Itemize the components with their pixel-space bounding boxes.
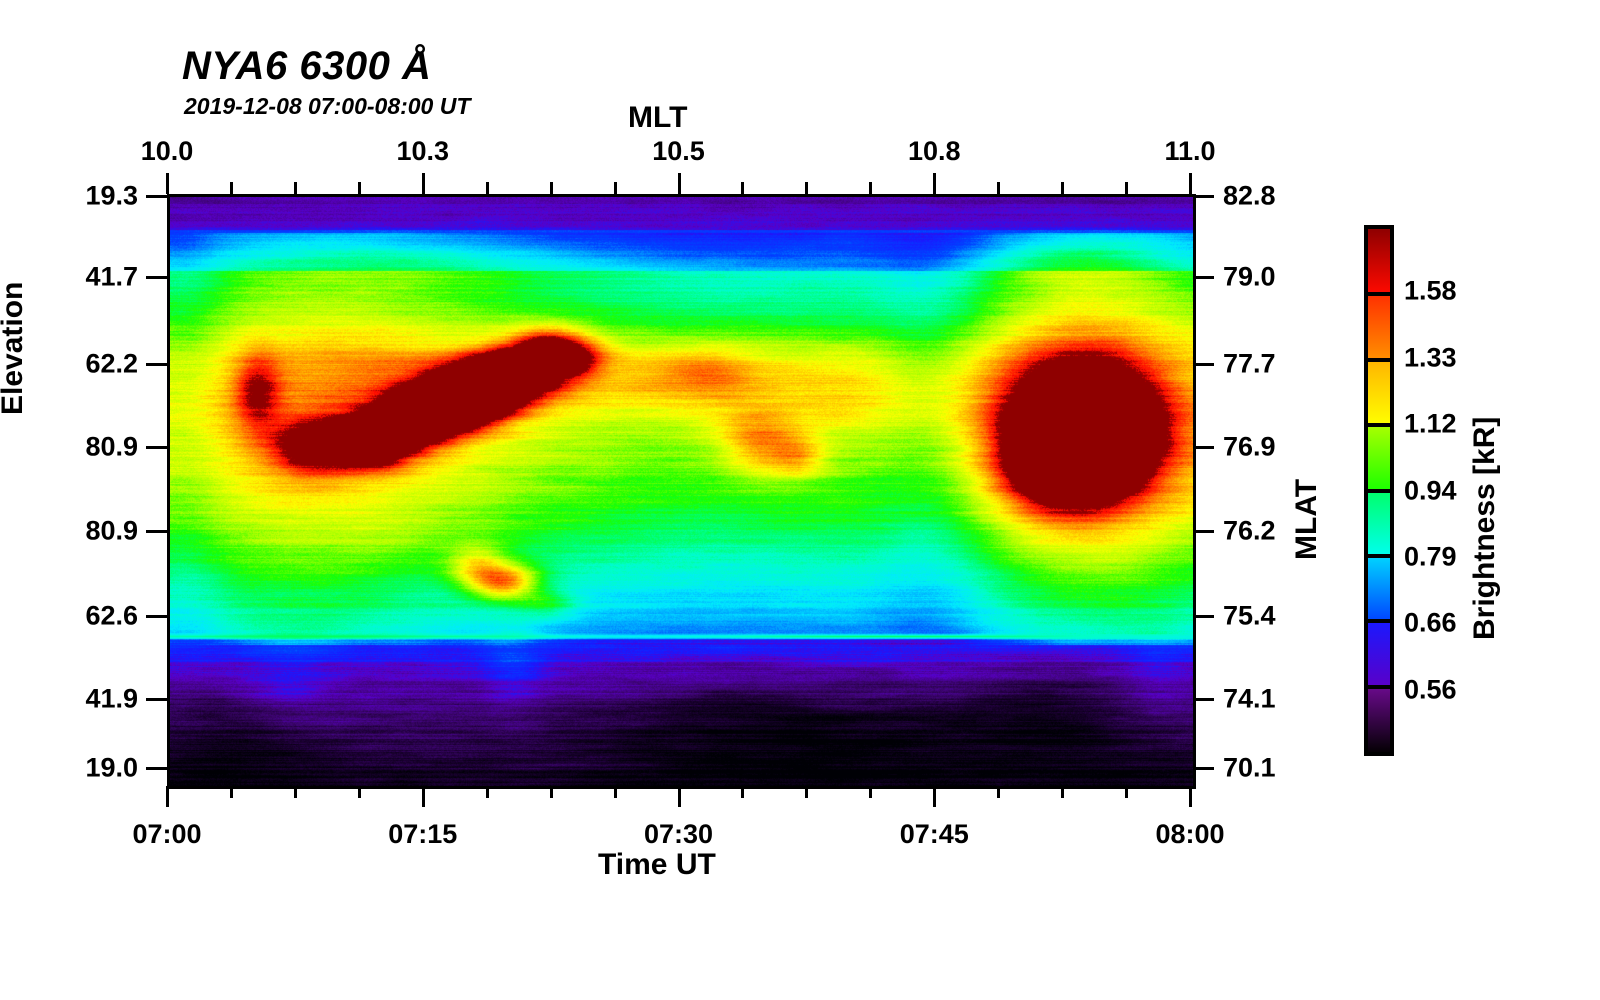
y-tick-right xyxy=(1193,276,1214,279)
page-subtitle: 2019-12-08 07:00-08:00 UT xyxy=(184,93,470,120)
y-tick-left xyxy=(146,363,167,366)
y-tick-right xyxy=(1193,530,1214,533)
colorbar-segment xyxy=(1368,556,1390,621)
colorbar-tick-label: 1.12 xyxy=(1404,409,1457,440)
x-tick-top xyxy=(678,173,681,194)
colorbar-divider xyxy=(1368,423,1390,427)
x-tick-top xyxy=(166,173,169,194)
colorbar-segment xyxy=(1368,360,1390,425)
x-minor-tick-bottom xyxy=(741,786,744,798)
x-minor-tick-bottom xyxy=(997,786,1000,798)
x-tick-label-bottom: 07:45 xyxy=(900,819,969,850)
y-tick-left xyxy=(146,698,167,701)
x-minor-tick-top xyxy=(741,182,744,194)
x-tick-top xyxy=(933,173,936,194)
y-tick-label-left: 19.3 xyxy=(85,180,138,211)
heatmap-plot-area xyxy=(167,194,1196,789)
x-minor-tick-top xyxy=(294,182,297,194)
y-tick-label-left: 41.7 xyxy=(85,262,138,293)
y-tick-label-left: 41.9 xyxy=(85,683,138,714)
colorbar-divider xyxy=(1368,554,1390,558)
y-tick-label-right: 76.2 xyxy=(1223,515,1276,546)
y-tick-left xyxy=(146,446,167,449)
colorbar-title: Brightness [kR] xyxy=(1468,417,1502,640)
colorbar-gradient xyxy=(1368,229,1390,752)
x-tick-bottom xyxy=(166,786,169,807)
right-axis-title: MLAT xyxy=(1290,479,1324,560)
x-tick-label-top: 10.8 xyxy=(908,136,961,167)
y-tick-right xyxy=(1193,767,1214,770)
x-minor-tick-bottom xyxy=(1061,786,1064,798)
x-tick-label-top: 10.0 xyxy=(141,136,194,167)
x-minor-tick-top xyxy=(614,182,617,194)
x-minor-tick-bottom xyxy=(294,786,297,798)
x-tick-label-top: 10.3 xyxy=(396,136,449,167)
colorbar-segment xyxy=(1368,229,1390,294)
top-axis-title: MLT xyxy=(628,101,687,135)
page-title: NYA6 6300 Å xyxy=(182,44,431,89)
x-minor-tick-bottom xyxy=(550,786,553,798)
x-minor-tick-bottom xyxy=(869,786,872,798)
colorbar-tick-label: 1.33 xyxy=(1404,342,1457,373)
colorbar xyxy=(1364,225,1394,756)
x-minor-tick-bottom xyxy=(614,786,617,798)
y-tick-label-right: 75.4 xyxy=(1223,600,1276,631)
x-minor-tick-top xyxy=(486,182,489,194)
x-minor-tick-bottom xyxy=(1125,786,1128,798)
y-tick-left xyxy=(146,767,167,770)
x-minor-tick-bottom xyxy=(486,786,489,798)
x-tick-label-bottom: 08:00 xyxy=(1155,819,1224,850)
x-minor-tick-top xyxy=(805,182,808,194)
colorbar-tick-label: 0.56 xyxy=(1404,674,1457,705)
colorbar-tick-label: 1.58 xyxy=(1404,276,1457,307)
y-tick-label-right: 76.9 xyxy=(1223,432,1276,463)
x-minor-tick-top xyxy=(869,182,872,194)
x-tick-label-bottom: 07:30 xyxy=(644,819,713,850)
y-tick-right xyxy=(1193,446,1214,449)
colorbar-tick-label: 0.94 xyxy=(1404,475,1457,506)
x-tick-bottom xyxy=(933,786,936,807)
x-tick-top xyxy=(1189,173,1192,194)
x-tick-top xyxy=(422,173,425,194)
colorbar-tick-label: 0.66 xyxy=(1404,608,1457,639)
colorbar-divider xyxy=(1368,619,1390,623)
x-minor-tick-top xyxy=(1061,182,1064,194)
y-tick-label-left: 80.9 xyxy=(85,432,138,463)
y-tick-label-right: 82.8 xyxy=(1223,180,1276,211)
x-minor-tick-top xyxy=(997,182,1000,194)
x-tick-label-bottom: 07:15 xyxy=(388,819,457,850)
colorbar-segment xyxy=(1368,687,1390,752)
colorbar-segment xyxy=(1368,621,1390,686)
x-tick-bottom xyxy=(1189,786,1192,807)
x-tick-label-top: 11.0 xyxy=(1164,136,1215,167)
x-tick-label-top: 10.5 xyxy=(652,136,705,167)
y-tick-left xyxy=(146,195,167,198)
x-minor-tick-top xyxy=(1125,182,1128,194)
colorbar-divider xyxy=(1368,489,1390,493)
y-tick-label-left: 80.9 xyxy=(85,515,138,546)
y-tick-label-right: 79.0 xyxy=(1223,262,1276,293)
x-minor-tick-top xyxy=(230,182,233,194)
y-tick-right xyxy=(1193,363,1214,366)
y-tick-label-right: 70.1 xyxy=(1223,753,1276,784)
keogram-image xyxy=(170,197,1193,786)
y-tick-left xyxy=(146,530,167,533)
y-tick-label-left: 19.0 xyxy=(85,753,138,784)
y-tick-left xyxy=(146,615,167,618)
colorbar-tick-label: 0.79 xyxy=(1404,541,1457,572)
y-tick-right xyxy=(1193,615,1214,618)
y-tick-label-left: 62.6 xyxy=(85,600,138,631)
y-tick-label-right: 74.1 xyxy=(1223,683,1276,714)
colorbar-divider xyxy=(1368,358,1390,362)
x-minor-tick-top xyxy=(550,182,553,194)
bottom-axis-title: Time UT xyxy=(598,848,716,882)
x-minor-tick-bottom xyxy=(230,786,233,798)
x-minor-tick-bottom xyxy=(805,786,808,798)
colorbar-segment xyxy=(1368,294,1390,359)
colorbar-divider xyxy=(1368,685,1390,689)
colorbar-segment xyxy=(1368,491,1390,556)
left-axis-title: Elevation xyxy=(0,282,30,415)
colorbar-divider xyxy=(1368,292,1390,296)
x-tick-bottom xyxy=(678,786,681,807)
y-tick-label-right: 77.7 xyxy=(1223,348,1276,379)
x-tick-bottom xyxy=(422,786,425,807)
y-tick-left xyxy=(146,276,167,279)
x-minor-tick-bottom xyxy=(358,786,361,798)
x-tick-label-bottom: 07:00 xyxy=(132,819,201,850)
y-tick-label-left: 62.2 xyxy=(85,348,138,379)
colorbar-segment xyxy=(1368,425,1390,490)
y-tick-right xyxy=(1193,195,1214,198)
x-minor-tick-top xyxy=(358,182,361,194)
y-tick-right xyxy=(1193,698,1214,701)
